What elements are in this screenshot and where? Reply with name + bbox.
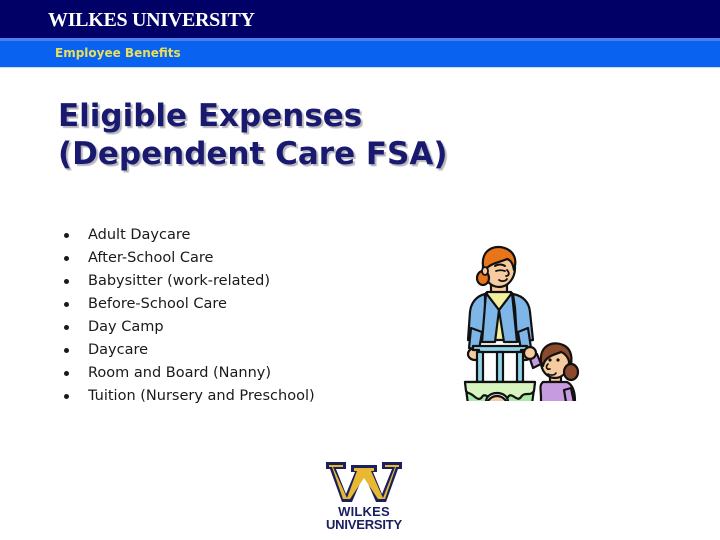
header-bottom-underline [0, 67, 720, 68]
list-item-label: Adult Daycare [88, 227, 190, 243]
brand-title: WILKES UNIVERSITY [48, 9, 255, 31]
eligible-expenses-list: Adult Daycare After-School Care Babysitt… [60, 224, 440, 408]
caregiver-illustration [455, 236, 590, 401]
bullet-dot-icon [64, 302, 69, 307]
list-item: Daycare [60, 339, 440, 362]
list-item: Tuition (Nursery and Preschool) [60, 385, 440, 408]
bullet-dot-icon [64, 325, 69, 330]
page-title: Eligible Expenses (Dependent Care FSA) [58, 97, 618, 173]
list-item: Room and Board (Nanny) [60, 362, 440, 385]
list-item: After-School Care [60, 247, 440, 270]
list-item-label: Room and Board (Nanny) [88, 365, 271, 381]
section-label: Employee Benefits [55, 45, 181, 61]
bullet-dot-icon [64, 371, 69, 376]
bullet-dot-icon [64, 256, 69, 261]
list-item: Babysitter (work-related) [60, 270, 440, 293]
list-item-label: After-School Care [88, 250, 213, 266]
bullet-dot-icon [64, 348, 69, 353]
list-item: Adult Daycare [60, 224, 440, 247]
list-item-label: Babysitter (work-related) [88, 273, 270, 289]
list-item-label: Before-School Care [88, 296, 227, 312]
list-item-label: Daycare [88, 342, 148, 358]
list-item: Day Camp [60, 316, 440, 339]
bullet-dot-icon [64, 279, 69, 284]
page-title-line-1: Eligible Expenses [58, 97, 618, 135]
bullet-dot-icon [64, 394, 69, 399]
wilkes-w-monogram-icon [324, 460, 404, 504]
page-title-line-2: (Dependent Care FSA) [58, 135, 618, 173]
slide-root: WILKES UNIVERSITY Employee Benefits Elig… [0, 0, 720, 540]
list-item: Before-School Care [60, 293, 440, 316]
list-item-label: Day Camp [88, 319, 164, 335]
logo-text-university: UNIVERSITY [318, 518, 410, 531]
list-item-label: Tuition (Nursery and Preschool) [88, 388, 315, 404]
bullet-dot-icon [64, 233, 69, 238]
wilkes-university-logo: WILKES UNIVERSITY [318, 460, 410, 532]
